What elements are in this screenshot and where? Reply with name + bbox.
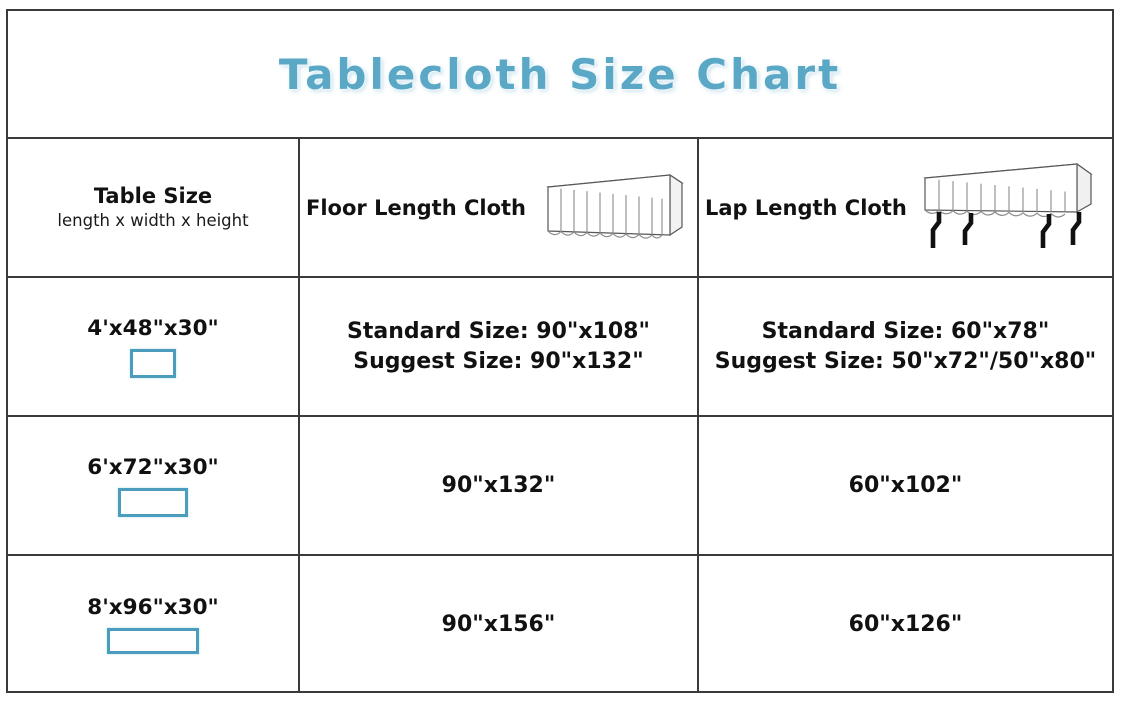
lap-length-header-inline: Lap Length Cloth xyxy=(705,156,1106,260)
header-cell-floor-length: Floor Length Cloth xyxy=(300,139,699,276)
cell-lap-length: 60"x102" xyxy=(699,417,1112,554)
header-cell-table-size: Table Size length x width x height xyxy=(8,139,300,276)
floor-length-value: 90"x132" xyxy=(442,473,556,498)
cell-lap-length: 60"x126" xyxy=(699,556,1112,693)
suggest-size-value: Suggest Size: 90"x132" xyxy=(347,347,650,376)
table-size-value: 6'x72"x30" xyxy=(87,455,219,480)
cell-table-size: 8'x96"x30" xyxy=(8,556,300,693)
floor-length-dimensions: Standard Size: 90"x108" Suggest Size: 90… xyxy=(347,317,650,375)
floor-length-value: 90"x156" xyxy=(442,612,556,637)
tablecloth-size-chart-page: Tablecloth Size Chart Table Size length … xyxy=(0,0,1125,701)
column-header-table-size: Table Size xyxy=(57,183,248,209)
table-size-header-stack: Table Size length x width x height xyxy=(57,183,248,232)
page-title: Tablecloth Size Chart xyxy=(279,50,841,99)
table-size-stack: 4'x48"x30" xyxy=(87,316,219,378)
table-size-stack: 8'x96"x30" xyxy=(87,595,219,654)
cell-floor-length: 90"x156" xyxy=(300,556,699,693)
table-header-row: Table Size length x width x height Floor… xyxy=(8,139,1112,278)
cell-floor-length: Standard Size: 90"x108" Suggest Size: 90… xyxy=(300,278,699,415)
column-header-table-size-subtitle: length x width x height xyxy=(57,211,248,232)
lap-length-value: 60"x126" xyxy=(849,612,963,637)
lap-length-value: 60"x102" xyxy=(849,473,963,498)
standard-size-value: Standard Size: 60"x78" xyxy=(715,317,1097,346)
cell-table-size: 4'x48"x30" xyxy=(8,278,300,415)
table-row: 4'x48"x30" Standard Size: 90"x108" Sugge… xyxy=(8,278,1112,417)
floor-length-header-inline: Floor Length Cloth xyxy=(306,169,691,247)
cell-table-size: 6'x72"x30" xyxy=(8,417,300,554)
cell-lap-length: Standard Size: 60"x78" Suggest Size: 50"… xyxy=(699,278,1112,415)
title-band: Tablecloth Size Chart xyxy=(8,11,1112,139)
chart-table: Tablecloth Size Chart Table Size length … xyxy=(6,9,1114,693)
standard-size-value: Standard Size: 90"x108" xyxy=(347,317,650,346)
table-outline-icon xyxy=(107,628,199,654)
floor-length-tablecloth-illustration xyxy=(528,169,686,247)
table-size-value: 4'x48"x30" xyxy=(87,316,219,341)
cell-floor-length: 90"x132" xyxy=(300,417,699,554)
table-row: 8'x96"x30" 90"x156" 60"x126" xyxy=(8,556,1112,693)
column-header-lap-length-cloth: Lap Length Cloth xyxy=(705,196,907,220)
header-cell-lap-length: Lap Length Cloth xyxy=(699,139,1112,276)
lap-length-dimensions: Standard Size: 60"x78" Suggest Size: 50"… xyxy=(715,317,1097,375)
suggest-size-value: Suggest Size: 50"x72"/50"x80" xyxy=(715,347,1097,376)
table-row: 6'x72"x30" 90"x132" 60"x102" xyxy=(8,417,1112,556)
lap-length-tablecloth-illustration xyxy=(909,156,1099,260)
table-outline-icon xyxy=(130,349,176,378)
table-size-value: 8'x96"x30" xyxy=(87,595,219,620)
table-outline-icon xyxy=(118,488,188,517)
table-size-stack: 6'x72"x30" xyxy=(87,455,219,517)
column-header-floor-length-cloth: Floor Length Cloth xyxy=(306,196,526,220)
